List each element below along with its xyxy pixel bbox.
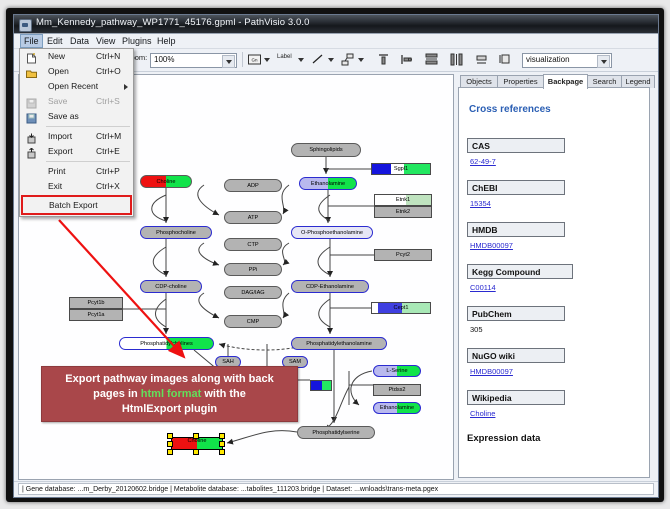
menu-item-import[interactable]: Import Ctrl+M: [20, 129, 133, 144]
svg-text:Gn: Gn: [251, 58, 258, 63]
distribute-vertical-button[interactable]: [424, 52, 439, 67]
pathvisio-window: Mm_Kennedy_pathway_WP1771_45176.gpml - P…: [13, 14, 659, 498]
same-width-button[interactable]: [474, 52, 489, 67]
menu-item-open-recent[interactable]: Open Recent: [20, 79, 133, 94]
menu-item-save: Save Ctrl+S: [20, 94, 133, 109]
distribute-horizontal-button[interactable]: [449, 52, 464, 67]
label-dropdown-icon[interactable]: [298, 57, 305, 63]
menu-item-save-as[interactable]: Save as: [20, 109, 133, 124]
db-header-cas: CAS: [467, 138, 565, 153]
callout-line2-post: with the: [201, 388, 246, 400]
save-disk-icon: [26, 96, 37, 107]
screen-root: Mm_Kennedy_pathway_WP1771_45176.gpml - P…: [0, 0, 670, 509]
db-header-chebi: ChEBI: [467, 180, 565, 195]
db-header-kegg: Kegg Compound: [467, 264, 573, 279]
open-folder-icon: [26, 66, 37, 77]
menu-item-new-label: New: [48, 51, 65, 61]
menu-item-open-accel: Ctrl+O: [96, 66, 121, 76]
db-link-hmdb[interactable]: HMDB00097: [470, 241, 513, 250]
same-height-button[interactable]: [498, 52, 513, 67]
status-bar: | Gene database: ...m_Derby_20120602.bri…: [14, 481, 658, 497]
status-text: | Gene database: ...m_Derby_20120602.bri…: [18, 483, 654, 495]
menu-bar: File Edit Data View Plugins Help: [14, 34, 658, 49]
menu-item-exit-accel: Ctrl+X: [96, 181, 120, 191]
label-tool-label[interactable]: Label: [277, 54, 292, 60]
import-icon: [26, 131, 37, 142]
pathvisio-app-icon: [19, 19, 32, 32]
zoom-combobox[interactable]: 100%: [150, 53, 237, 68]
menu-item-save-accel: Ctrl+S: [96, 96, 120, 106]
menu-help[interactable]: Help: [154, 35, 179, 47]
db-header-nugo: NuGO wiki: [467, 348, 565, 363]
db-link-cas[interactable]: 62-49-7: [470, 157, 496, 166]
db-link-chebi[interactable]: 15354: [470, 199, 491, 208]
cross-references-heading: Cross references: [469, 104, 551, 115]
toolbar-separator: [242, 52, 243, 67]
menu-item-open-label: Open: [48, 66, 69, 76]
menu-item-print-accel: Ctrl+P: [96, 166, 120, 176]
line-dropdown-icon[interactable]: [328, 57, 335, 63]
align-left-button[interactable]: [399, 52, 414, 67]
menu-item-save-label: Save: [48, 96, 67, 106]
db-link-kegg[interactable]: C00114: [470, 283, 496, 292]
callout-line1: Export pathway images along with back: [65, 373, 273, 385]
shape-tool[interactable]: [340, 52, 355, 67]
chevron-down-icon[interactable]: [222, 55, 235, 68]
menu-item-exit-label: Exit: [48, 181, 62, 191]
file-menu-dropdown[interactable]: New Ctrl+N Open Ctrl+O Open Recent Save: [19, 48, 134, 217]
db-link-nugo[interactable]: HMDB00097: [470, 367, 513, 376]
backpage-content[interactable]: Cross references CAS 62-49-7 ChEBI 15354…: [458, 87, 650, 478]
db-header-wikipedia: Wikipedia: [467, 390, 565, 405]
menu-item-open[interactable]: Open Ctrl+O: [20, 64, 133, 79]
menu-item-export-label: Export: [48, 146, 73, 156]
visualization-value: visualization: [526, 55, 570, 64]
menu-data[interactable]: Data: [67, 35, 92, 47]
expression-data-heading: Expression data: [467, 433, 540, 444]
datanode-dropdown-icon[interactable]: [264, 57, 271, 63]
visualization-combobox[interactable]: visualization: [522, 53, 612, 68]
window-frame: Mm_Kennedy_pathway_WP1771_45176.gpml - P…: [6, 8, 664, 502]
callout-line3: HtmlExport plugin: [122, 403, 217, 415]
side-panel-tabs: Objects Properties Backpage Search Legen…: [458, 74, 650, 88]
annotation-callout: Export pathway images along with back pa…: [41, 366, 298, 422]
tab-backpage[interactable]: Backpage: [543, 74, 588, 89]
menu-plugins[interactable]: Plugins: [119, 35, 155, 47]
menu-view[interactable]: View: [93, 35, 118, 47]
menu-item-export[interactable]: Export Ctrl+E: [20, 144, 133, 159]
chevron-down-icon-2[interactable]: [597, 55, 610, 68]
menu-item-save-as-label: Save as: [48, 111, 79, 121]
menu-item-batch-export[interactable]: Batch Export: [21, 195, 132, 215]
title-bar: Mm_Kennedy_pathway_WP1771_45176.gpml - P…: [14, 15, 658, 34]
menu-item-batch-export-label: Batch Export: [49, 200, 98, 210]
menu-edit[interactable]: Edit: [44, 35, 66, 47]
menu-item-new-accel: Ctrl+N: [96, 51, 120, 61]
db-header-pubchem: PubChem: [467, 306, 565, 321]
db-value-pubchem: 305: [470, 325, 483, 334]
db-header-hmdb: HMDB: [467, 222, 565, 237]
window-title: Mm_Kennedy_pathway_WP1771_45176.gpml - P…: [36, 17, 310, 28]
menu-file[interactable]: File: [20, 34, 43, 48]
callout-line2-highlight: html format: [141, 388, 202, 400]
callout-text: Export pathway images along with back pa…: [48, 372, 291, 417]
menu-item-exit[interactable]: Exit Ctrl+X: [20, 179, 133, 194]
datanode-tool[interactable]: Gn: [247, 52, 262, 67]
menu-item-import-label: Import: [48, 131, 72, 141]
zoom-value: 100%: [154, 55, 174, 64]
menu-item-open-recent-label: Open Recent: [48, 81, 98, 91]
callout-line2-pre: pages in: [93, 388, 141, 400]
export-icon: [26, 146, 37, 157]
save-as-icon: [26, 111, 37, 122]
shape-dropdown-icon[interactable]: [358, 57, 365, 63]
menu-divider-1: [46, 126, 130, 127]
menu-item-import-accel: Ctrl+M: [96, 131, 121, 141]
align-top-button[interactable]: [376, 52, 391, 67]
chevron-right-icon: [124, 84, 128, 90]
menu-divider-2: [46, 161, 130, 162]
menu-item-export-accel: Ctrl+E: [96, 146, 120, 156]
menu-item-print-label: Print: [48, 166, 65, 176]
side-panel: Objects Properties Backpage Search Legen…: [458, 74, 650, 478]
new-document-icon: [26, 51, 37, 62]
menu-item-new[interactable]: New Ctrl+N: [20, 49, 133, 64]
db-link-wikipedia[interactable]: Choline: [470, 409, 495, 418]
line-tool[interactable]: [310, 52, 325, 67]
menu-item-print[interactable]: Print Ctrl+P: [20, 164, 133, 179]
